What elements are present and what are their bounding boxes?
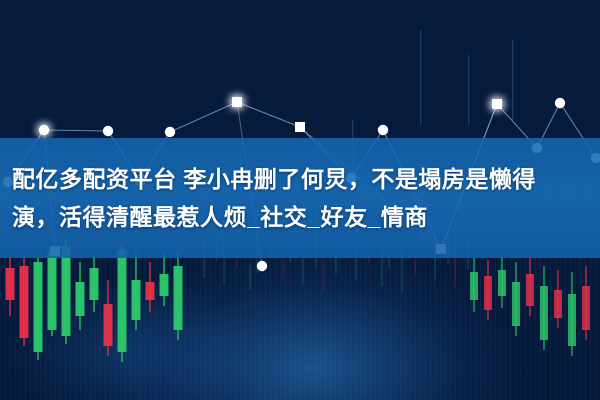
- network-node: [232, 97, 242, 107]
- network-node: [257, 261, 267, 271]
- network-node: [492, 99, 502, 109]
- stock-article-banner: 配亿多配资平台 李小冉删了何炅，不是塌房是懒得 演，活得清醒最惹人烦_社交_好友…: [0, 0, 600, 400]
- network-node: [555, 98, 565, 108]
- headline-line-2: 演，活得清醒最惹人烦_社交_好友_情商: [12, 200, 428, 234]
- network-node: [39, 125, 49, 135]
- headline-line-1: 配亿多配资平台 李小冉删了何炅，不是塌房是懒得: [12, 162, 536, 196]
- headline-block: 配亿多配资平台 李小冉删了何炅，不是塌房是懒得 演，活得清醒最惹人烦_社交_好友…: [0, 138, 600, 258]
- network-node: [103, 126, 113, 136]
- network-node: [295, 122, 305, 132]
- network-node: [165, 127, 175, 137]
- network-node: [378, 125, 388, 135]
